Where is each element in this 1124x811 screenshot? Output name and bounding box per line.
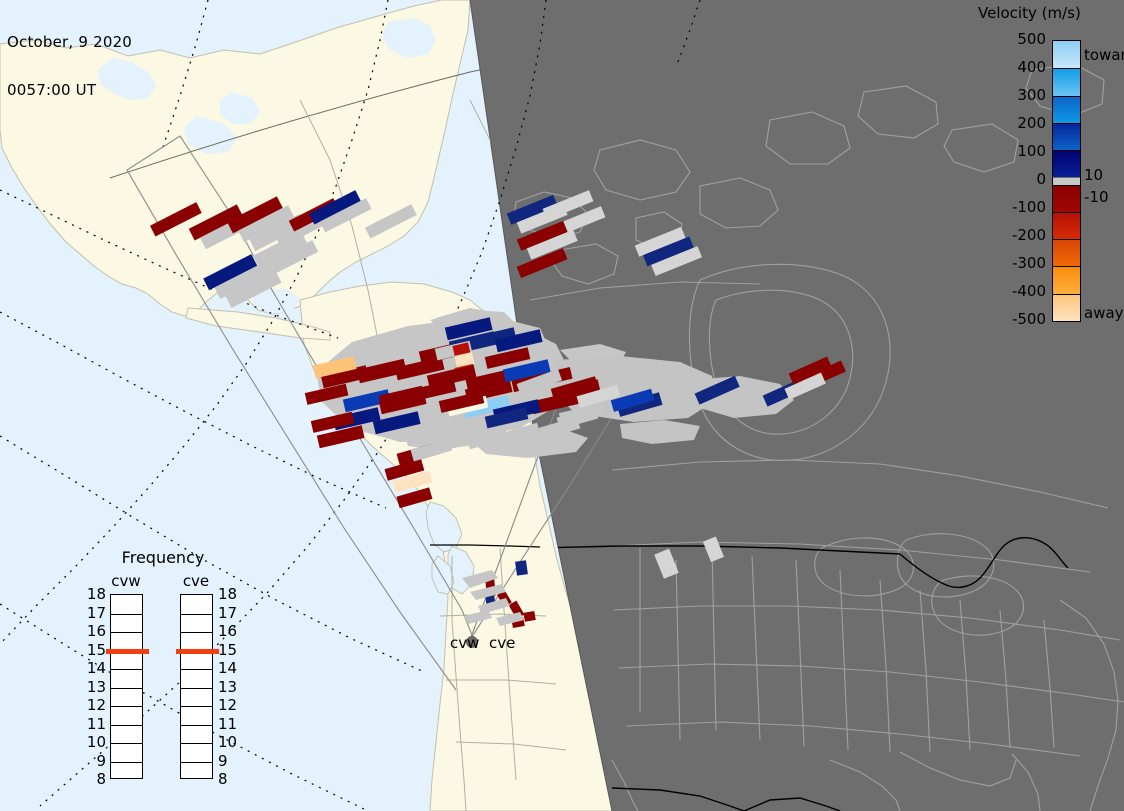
frequency-gridline xyxy=(111,706,142,707)
colorbar-band xyxy=(1053,185,1080,212)
frequency-tick-label: 17 xyxy=(84,606,106,621)
colorbar-tick: 100 xyxy=(980,144,1046,159)
colorbar-lower-threshold-label: -10 xyxy=(1084,190,1109,205)
frequency-tick-label: 10 xyxy=(218,735,240,750)
frequency-bar xyxy=(180,594,213,779)
frequency-gridline xyxy=(181,762,212,763)
colorbar-tick: -300 xyxy=(980,256,1046,271)
colorbar-separator xyxy=(1053,96,1080,97)
frequency-tick-label: 17 xyxy=(218,606,240,621)
frequency-marker xyxy=(106,649,149,654)
frequency-gridline xyxy=(111,632,142,633)
frequency-tick-label: 15 xyxy=(218,643,240,658)
colorbar-band xyxy=(1053,41,1080,68)
frequency-gridline xyxy=(181,725,212,726)
colorbar-gradient-box xyxy=(1052,40,1081,322)
frequency-tick-label: 16 xyxy=(84,624,106,639)
frequency-gridline xyxy=(181,614,212,615)
frequency-gridline xyxy=(111,688,142,689)
frequency-tick-label: 11 xyxy=(218,717,240,732)
colorbar-band xyxy=(1053,294,1080,321)
frequency-tick-label: 13 xyxy=(84,680,106,695)
timestamp-time: 0057:00 UT xyxy=(7,82,132,98)
colorbar-separator xyxy=(1053,294,1080,295)
frequency-title: Frequency xyxy=(88,548,238,567)
colorbar-tick: -200 xyxy=(980,228,1046,243)
frequency-tick-label: 11 xyxy=(84,717,106,732)
frequency-tick-label: 8 xyxy=(218,772,240,787)
frequency-marker xyxy=(176,649,219,654)
colorbar-tick: -400 xyxy=(980,284,1046,299)
colorbar-zero-band xyxy=(1053,178,1080,185)
colorbar-tick: 400 xyxy=(980,60,1046,75)
colorbar-tick: 200 xyxy=(980,116,1046,131)
frequency-gridline xyxy=(181,688,212,689)
colorbar-title: Velocity (m/s) xyxy=(978,4,1124,22)
frequency-tick-label: 8 xyxy=(84,772,106,787)
frequency-tick-label: 16 xyxy=(218,624,240,639)
colorbar-band xyxy=(1053,212,1080,239)
colorbar-band xyxy=(1053,96,1080,123)
colorbar-tick: 500 xyxy=(980,32,1046,47)
frequency-gridline xyxy=(111,725,142,726)
frequency-gridline xyxy=(181,632,212,633)
colorbar-separator xyxy=(1053,212,1080,213)
frequency-radar-name: cve xyxy=(174,572,218,590)
colorbar-tick: -500 xyxy=(980,312,1046,327)
colorbar-separator xyxy=(1053,185,1080,186)
colorbar-away-label: away xyxy=(1084,306,1124,321)
colorbar-band xyxy=(1053,123,1080,150)
frequency-tick-label: 18 xyxy=(218,587,240,602)
frequency-legend: Frequency cvw18171615141312111098cve1817… xyxy=(88,548,238,788)
frequency-tick-label: 15 xyxy=(84,643,106,658)
colorbar-separator xyxy=(1053,150,1080,151)
colorbar-upper-threshold-label: 10 xyxy=(1084,168,1103,183)
colorbar-band xyxy=(1053,150,1080,177)
frequency-gridline xyxy=(111,669,142,670)
colorbar-band xyxy=(1053,266,1080,293)
site-label-cvw: cvw xyxy=(450,634,479,652)
frequency-gridline xyxy=(111,614,142,615)
site-label-cve: cve xyxy=(489,634,515,652)
colorbar-band xyxy=(1053,68,1080,95)
timestamp-date: October, 9 2020 xyxy=(7,34,132,50)
timestamp: October, 9 2020 0057:00 UT xyxy=(7,2,132,130)
frequency-bar xyxy=(110,594,143,779)
colorbar-band xyxy=(1053,239,1080,266)
frequency-tick-label: 12 xyxy=(218,698,240,713)
frequency-gridline xyxy=(181,706,212,707)
colorbar-separator xyxy=(1053,239,1080,240)
colorbar-separator xyxy=(1053,68,1080,69)
frequency-tick-label: 10 xyxy=(84,735,106,750)
frequency-tick-label: 13 xyxy=(218,680,240,695)
frequency-tick-label: 12 xyxy=(84,698,106,713)
frequency-tick-label: 9 xyxy=(218,754,240,769)
colorbar-toward-label: toward xyxy=(1084,48,1124,63)
frequency-tick-label: 14 xyxy=(218,661,240,676)
frequency-gridline xyxy=(111,762,142,763)
frequency-gridline xyxy=(111,743,142,744)
frequency-gridline xyxy=(181,743,212,744)
frequency-tick-label: 14 xyxy=(84,661,106,676)
frequency-tick-label: 9 xyxy=(84,754,106,769)
colorbar-separator xyxy=(1053,266,1080,267)
frequency-tick-label: 18 xyxy=(84,587,106,602)
colorbar-tick: 300 xyxy=(980,88,1046,103)
frequency-radar-name: cvw xyxy=(104,572,148,590)
colorbar-tick: 0 xyxy=(980,172,1046,187)
colorbar-separator xyxy=(1053,123,1080,124)
frequency-gridline xyxy=(181,669,212,670)
velocity-colorbar: Velocity (m/s) 5004003002001000-100-200-… xyxy=(978,4,1124,334)
colorbar-tick: -100 xyxy=(980,200,1046,215)
radar-velocity-map: October, 9 2020 0057:00 UT Velocity (m/s… xyxy=(0,0,1124,811)
